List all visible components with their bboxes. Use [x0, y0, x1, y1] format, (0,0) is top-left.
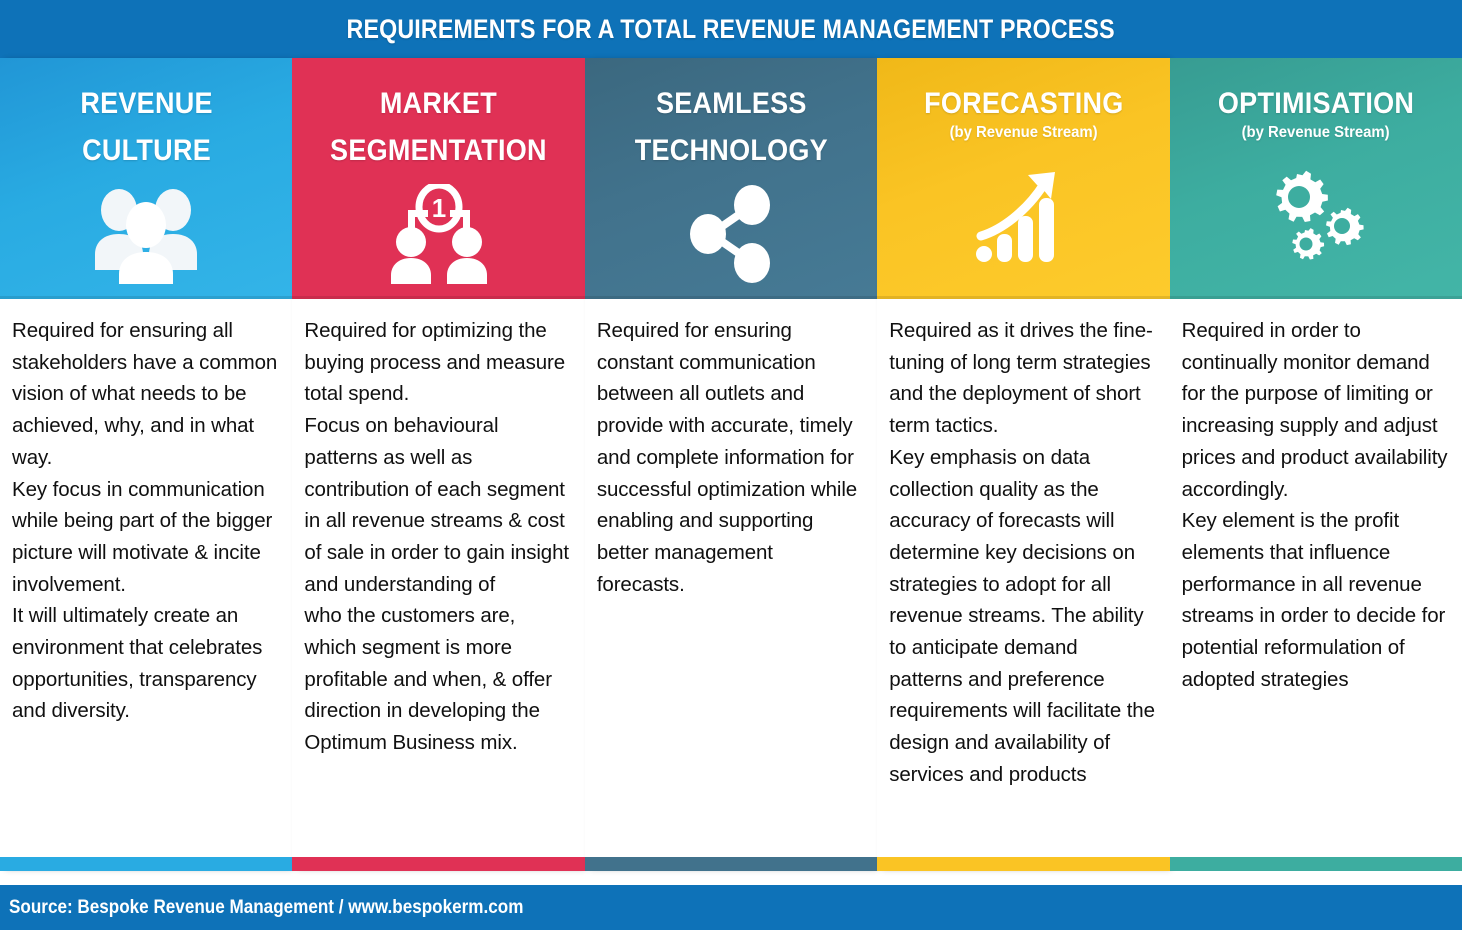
- column-subtitle: (by Revenue Stream): [949, 124, 1097, 142]
- column-body-text: Required as it drives the fine-tuning of…: [889, 315, 1155, 791]
- growth-chart-icon: [877, 142, 1169, 299]
- infographic-poster: REQUIREMENTS FOR A TOTAL REVENUE MANAGEM…: [0, 0, 1462, 930]
- title-bar: REQUIREMENTS FOR A TOTAL REVENUE MANAGEM…: [0, 0, 1462, 58]
- column-footer-strip: [0, 857, 292, 871]
- column-header-seamless-technology: SEAMLESS TECHNOLOGY: [585, 58, 877, 299]
- column-header-revenue-culture: REVENUE CULTURE: [0, 58, 292, 299]
- column-header-market-segmentation: MARKET SEGMENTATION 1: [292, 58, 584, 299]
- column-subtitle: (by Revenue Stream): [1242, 124, 1390, 142]
- column-body-text: Required for ensuring constant communica…: [597, 315, 863, 600]
- column-header-optimisation: OPTIMISATION (by Revenue Stream): [1170, 58, 1462, 299]
- columns-container: REVENUE CULTURE: [0, 58, 1462, 871]
- column-market-segmentation[interactable]: MARKET SEGMENTATION 1: [292, 58, 584, 871]
- share-network-icon: [585, 174, 877, 299]
- column-body-seamless-technology: Required for ensuring constant communica…: [585, 299, 877, 857]
- column-title: MARKET SEGMENTATION: [330, 80, 547, 174]
- column-title: OPTIMISATION: [1218, 80, 1414, 127]
- column-footer-strip: [585, 857, 877, 871]
- column-title: REVENUE CULTURE: [80, 80, 212, 174]
- column-footer-strip: [877, 857, 1169, 871]
- svg-text:1: 1: [431, 193, 445, 223]
- gears-icon: [1170, 142, 1462, 299]
- column-title: SEAMLESS TECHNOLOGY: [634, 80, 827, 174]
- source-text: Source: Bespoke Revenue Management / www…: [0, 897, 523, 919]
- segmentation-people-icon: 1: [292, 174, 584, 299]
- column-revenue-culture[interactable]: REVENUE CULTURE: [0, 58, 292, 871]
- column-forecasting[interactable]: FORECASTING (by Revenue Stream): [877, 58, 1169, 871]
- three-people-icon: [0, 174, 292, 299]
- column-body-text: Required in order to continually monitor…: [1182, 315, 1448, 695]
- column-body-optimisation: Required in order to continually monitor…: [1170, 299, 1462, 857]
- page-title: REQUIREMENTS FOR A TOTAL REVENUE MANAGEM…: [347, 14, 1115, 45]
- column-seamless-technology[interactable]: SEAMLESS TECHNOLOGY: [585, 58, 877, 871]
- column-body-revenue-culture: Required for ensuring all stakeholders h…: [0, 299, 292, 857]
- column-optimisation[interactable]: OPTIMISATION (by Revenue Stream): [1170, 58, 1462, 871]
- column-body-forecasting: Required as it drives the fine-tuning of…: [877, 299, 1169, 857]
- column-body-text: Required for optimizing the buying proce…: [304, 315, 570, 759]
- column-header-forecasting: FORECASTING (by Revenue Stream): [877, 58, 1169, 299]
- column-title: FORECASTING: [924, 80, 1123, 127]
- column-footer-strip: [1170, 857, 1462, 871]
- column-body-text: Required for ensuring all stakeholders h…: [12, 315, 278, 727]
- footer-bar: Source: Bespoke Revenue Management / www…: [0, 885, 1462, 930]
- column-body-market-segmentation: Required for optimizing the buying proce…: [292, 299, 584, 857]
- column-footer-strip: [292, 857, 584, 871]
